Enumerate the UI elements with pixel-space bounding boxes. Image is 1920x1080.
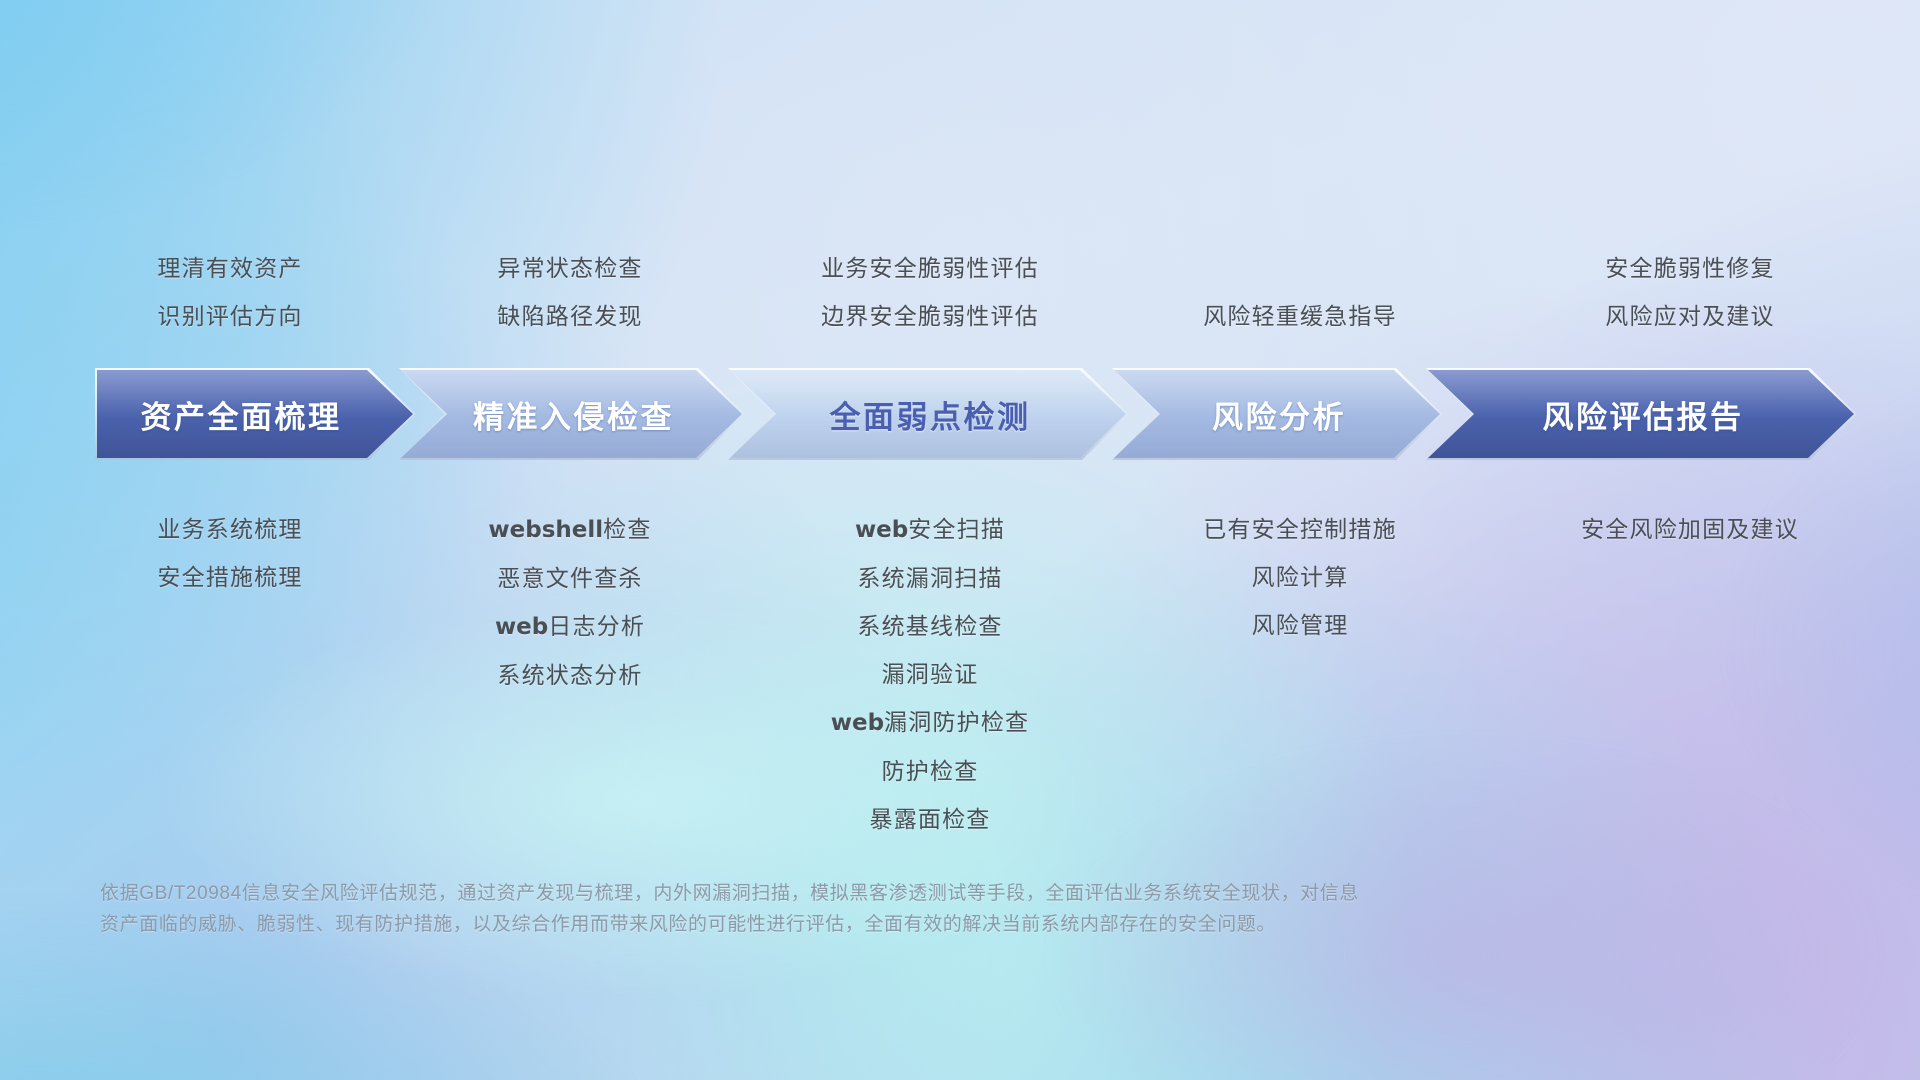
list-item: web漏洞防护检查	[660, 698, 1200, 747]
list-item-cjk: 安全措施梳理	[157, 564, 302, 590]
list-item-cjk: 系统漏洞扫描	[857, 565, 1002, 591]
list-item-cjk: 漏洞防护检查	[884, 709, 1029, 735]
footer-note-line-2: 资产面临的威胁、脆弱性、现有防护措施，以及综合作用而带来风险的可能性进行评估，全…	[100, 909, 1660, 940]
process-arrow-band: 资产全面梳理精准入侵检查全面弱点检测风险分析风险评估报告	[95, 368, 1855, 460]
list-item-cjk: 安全风险加固及建议	[1581, 516, 1799, 542]
footer-note: 依据GB/T20984信息安全风险评估规范，通过资产发现与梳理，内外网漏洞扫描，…	[100, 878, 1660, 940]
list-item: 暴露面检查	[660, 795, 1200, 843]
step-label-asset: 资产全面梳理	[141, 392, 342, 437]
list-item-cjk: 系统状态分析	[497, 662, 642, 688]
top-label-report-2: 风险应对及建议	[1430, 292, 1920, 340]
process-step-intrusion[interactable]: 精准入侵检查	[399, 368, 744, 460]
step-label-weakness: 全面弱点检测	[830, 392, 1031, 437]
list-item-cjk: 恶意文件查杀	[497, 565, 642, 591]
list-item-cjk: 系统基线检查	[857, 613, 1002, 639]
step-label-risk-analysis: 风险分析	[1212, 392, 1346, 437]
process-diagram: 理清有效资产识别评估方向异常状态检查缺陷路径发现业务安全脆弱性评估边界安全脆弱性…	[0, 0, 1920, 1080]
process-step-asset[interactable]: 资产全面梳理	[95, 368, 415, 460]
bottom-list-report: 安全风险加固及建议	[1420, 505, 1920, 553]
list-item: 风险管理	[1030, 601, 1570, 649]
list-item-cjk: 业务系统梳理	[157, 516, 302, 542]
list-item-cjk: 已有安全控制措施	[1203, 516, 1397, 542]
list-item-latin: web	[855, 517, 908, 543]
process-step-risk-analysis[interactable]: 风险分析	[1112, 368, 1442, 460]
list-item-cjk: 防护检查	[882, 758, 979, 784]
top-label-weakness-1: 业务安全脆弱性评估	[670, 244, 1190, 292]
list-item-cjk: 漏洞验证	[882, 661, 979, 687]
list-item: 安全风险加固及建议	[1420, 505, 1920, 553]
footer-note-line-1: 依据GB/T20984信息安全风险评估规范，通过资产发现与梳理，内外网漏洞扫描，…	[100, 878, 1660, 909]
process-step-weakness[interactable]: 全面弱点检测	[728, 368, 1128, 460]
step-label-report: 风险评估报告	[1543, 392, 1744, 437]
list-item: 防护检查	[660, 747, 1200, 795]
process-step-report[interactable]: 风险评估报告	[1426, 368, 1856, 460]
list-item-cjk: 暴露面检查	[870, 806, 991, 832]
list-item: 漏洞验证	[660, 650, 1200, 698]
list-item-cjk: 风险计算	[1252, 564, 1349, 590]
list-item-latin: web	[495, 614, 548, 640]
list-item-cjk: 安全扫描	[908, 516, 1005, 542]
list-item-latin: web	[831, 710, 884, 736]
list-item-cjk: 风险管理	[1252, 612, 1349, 638]
top-label-report-1: 安全脆弱性修复	[1430, 244, 1920, 292]
list-item-cjk: 检查	[603, 516, 651, 542]
list-item: 风险计算	[1030, 553, 1570, 601]
list-item-latin: webshell	[488, 517, 603, 543]
step-label-intrusion: 精准入侵检查	[473, 392, 674, 437]
list-item-cjk: 日志分析	[548, 613, 645, 639]
